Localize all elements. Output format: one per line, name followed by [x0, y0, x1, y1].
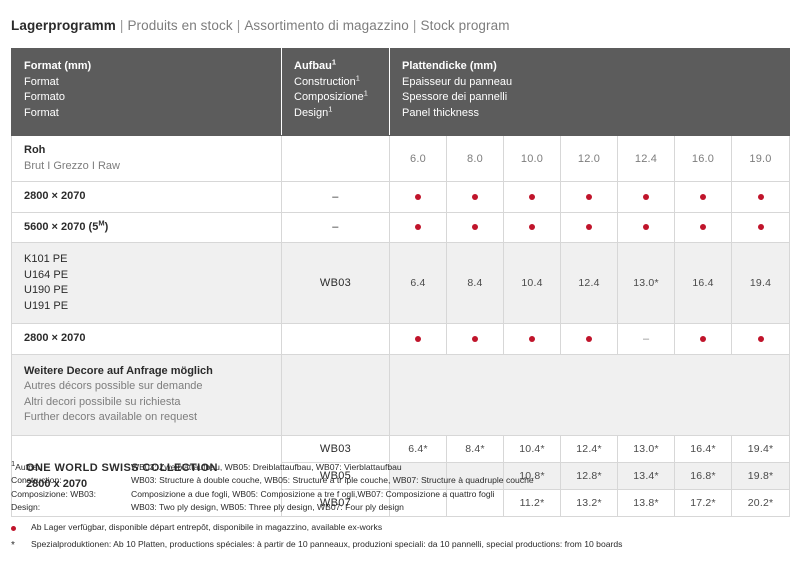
further-decors-aufbau — [282, 354, 390, 435]
footnote-row: Design: WB03: Two ply design, WB05: Thre… — [11, 501, 789, 514]
footnote-label-design: Design: — [11, 501, 131, 514]
availability-dot — [529, 194, 535, 200]
raw-2800-v5 — [618, 182, 675, 213]
roh-label-bold: Roh — [24, 143, 281, 159]
page-title-it: Assortimento di magazzino — [244, 18, 409, 33]
stock-program-sheet: Lagerprogramm|Produits en stock|Assortim… — [0, 0, 800, 566]
legend-text-star: Spezialproduktionen: Ab 10 Platten, prod… — [31, 536, 622, 552]
header-thickness-l4: Panel thickness — [402, 106, 789, 122]
decor-2800-label: 2800 × 2070 — [24, 332, 85, 344]
raw-5600-v4 — [561, 212, 618, 243]
page-title-fr: Produits en stock — [127, 18, 232, 33]
footnote-row: 1Aufbau WB03: Zweiblattaufbau, WB05: Dre… — [11, 461, 789, 474]
roh-aufbau-cell — [282, 136, 390, 182]
raw-5600-aufbau: – — [282, 212, 390, 243]
footnote-label-aufbau: 1Aufbau — [11, 461, 131, 474]
table-row-decor-2800: 2800 × 2070 – — [12, 324, 790, 355]
decor-k101-v6: 16.4 — [675, 243, 732, 324]
further-decors-l3: Altri decori possibile su richiesta — [24, 395, 281, 411]
title-separator-2: | — [233, 18, 245, 33]
availability-dot — [643, 224, 649, 230]
table-header-row: Format (mm) Format Formato Format Aufbau… — [12, 49, 790, 136]
table-row-raw-5600: 5600 × 2070 (5M) – — [12, 212, 790, 243]
legend-row-star: * Spezialproduktionen: Ab 10 Platten, pr… — [11, 536, 789, 553]
table-row-raw-2800: 2800 × 2070 – — [12, 182, 790, 213]
decor-k101-label-cell: K101 PE U164 PE U190 PE U191 PE — [12, 243, 282, 324]
raw-5600-v2 — [447, 212, 504, 243]
footnote-label-composizione: Composizione: WB03: — [11, 488, 131, 501]
legend-row-dot: Ab Lager verfügbar, disponible départ en… — [11, 519, 789, 536]
header-aufbau-l3: Composizione — [294, 91, 364, 103]
thickness-col-5: 12.4 — [618, 136, 675, 182]
further-decors-l1: Weitere Decore auf Anfrage möglich — [24, 364, 281, 380]
oneworld-wb03-v6: 16.4* — [675, 435, 732, 462]
thickness-col-7: 19.0 — [732, 136, 790, 182]
availability-dot — [415, 194, 421, 200]
table-row-oneworld-wb03: ONE WORLD SWISS COLLECTION 2800 x 2070 W… — [12, 435, 790, 462]
thickness-col-2: 8.0 — [447, 136, 504, 182]
raw-2800-v7 — [732, 182, 790, 213]
availability-dot — [700, 336, 706, 342]
header-format-l1: Format (mm) — [24, 59, 281, 75]
page-title-main: Lagerprogramm — [11, 18, 116, 33]
table-row-further-decors: Weitere Decore auf Anfrage möglich Autre… — [12, 354, 790, 435]
availability-dot — [472, 194, 478, 200]
raw-2800-v1 — [390, 182, 447, 213]
footnote-text-construction: WB03: Structure à double couche, WB05: S… — [131, 474, 789, 487]
availability-dot — [700, 194, 706, 200]
header-thickness-l2: Epaisseur du panneau — [402, 75, 789, 91]
title-separator-1: | — [116, 18, 128, 33]
raw-5600-label: 5600 × 2070 (5 — [24, 221, 98, 233]
header-format-cell: Format (mm) Format Formato Format — [12, 49, 282, 136]
header-format-l2: Format — [24, 75, 281, 91]
availability-dot — [586, 224, 592, 230]
header-aufbau-sup-2: 1 — [356, 73, 360, 82]
decor-k101-v2: 8.4 — [447, 243, 504, 324]
oneworld-wb03-aufbau: WB03 — [282, 435, 390, 462]
header-aufbau-cell: Aufbau1 Construction1 Composizione1 Desi… — [282, 49, 390, 136]
further-decors-values — [390, 354, 790, 435]
oneworld-wb03-v2: 8.4* — [447, 435, 504, 462]
footnote-label-construction: Construction: — [11, 474, 131, 487]
footnote-label-text: Aufbau — [15, 462, 42, 472]
decor-k101-v7: 19.4 — [732, 243, 790, 324]
further-decors-l2: Autres décors possible sur demande — [24, 379, 281, 395]
decor-2800-v7 — [732, 324, 790, 355]
oneworld-wb03-v1: 6.4* — [390, 435, 447, 462]
header-aufbau-sup-4: 1 — [328, 104, 332, 113]
header-format-l4: Format — [24, 106, 281, 122]
decor-2800-v3 — [504, 324, 561, 355]
raw-5600-v3 — [504, 212, 561, 243]
decor-k101-aufbau: WB03 — [282, 243, 390, 324]
availability-dot — [758, 224, 764, 230]
availability-dot — [472, 224, 478, 230]
decor-k101-l3: U190 PE — [24, 283, 281, 299]
roh-label-light: Brut I Grezzo I Raw — [24, 159, 281, 175]
header-thickness-cell: Plattendicke (mm) Epaisseur du panneau S… — [390, 49, 790, 136]
header-aufbau-sup-3: 1 — [364, 88, 368, 97]
footnote-text-aufbau: WB03: Zweiblattaufbau, WB05: Dreiblattau… — [131, 461, 789, 474]
availability-dot — [529, 224, 535, 230]
availability-dot-icon — [11, 526, 16, 531]
raw-2800-aufbau: – — [282, 182, 390, 213]
availability-dot — [586, 336, 592, 342]
footnote-text-design: WB03: Two ply design, WB05: Three ply de… — [131, 501, 789, 514]
header-aufbau-sup-1: 1 — [332, 57, 336, 66]
further-decors-l4: Further decors available on request — [24, 410, 281, 426]
availability-dot — [700, 224, 706, 230]
raw-2800-label-cell: 2800 × 2070 — [12, 182, 282, 213]
oneworld-wb03-v7: 19.4* — [732, 435, 790, 462]
raw-5600-label-cell: 5600 × 2070 (5M) — [12, 212, 282, 243]
availability-dot — [643, 194, 649, 200]
decor-k101-v3: 10.4 — [504, 243, 561, 324]
decor-2800-v1 — [390, 324, 447, 355]
availability-dot — [415, 336, 421, 342]
decor-2800-v5: – — [618, 324, 675, 355]
availability-dot — [472, 336, 478, 342]
header-aufbau-l2: Construction — [294, 76, 356, 88]
raw-2800-v4 — [561, 182, 618, 213]
availability-dot — [758, 194, 764, 200]
decor-k101-v4: 12.4 — [561, 243, 618, 324]
table-row-decor-k101: K101 PE U164 PE U190 PE U191 PE WB03 6.4… — [12, 243, 790, 324]
availability-dot — [586, 194, 592, 200]
raw-2800-label: 2800 × 2070 — [24, 190, 85, 202]
decor-2800-v4 — [561, 324, 618, 355]
header-format-l3: Formato — [24, 90, 281, 106]
oneworld-wb03-v4: 12.4* — [561, 435, 618, 462]
decor-2800-v6 — [675, 324, 732, 355]
roh-label-cell: Roh Brut I Grezzo I Raw — [12, 136, 282, 182]
page-title: Lagerprogramm|Produits en stock|Assortim… — [11, 18, 510, 33]
header-thickness-l1: Plattendicke (mm) — [402, 59, 789, 75]
footnote-row: Composizione: WB03: Composizione a due f… — [11, 488, 789, 501]
decor-2800-v2 — [447, 324, 504, 355]
decor-k101-l2: U164 PE — [24, 268, 281, 284]
decor-k101-v5: 13.0* — [618, 243, 675, 324]
header-thickness-l3: Spessore dei pannelli — [402, 90, 789, 106]
thickness-col-3: 10.0 — [504, 136, 561, 182]
decor-k101-l1: K101 PE — [24, 252, 281, 268]
footnotes-block: 1Aufbau WB03: Zweiblattaufbau, WB05: Dre… — [11, 461, 789, 514]
raw-5600-v7 — [732, 212, 790, 243]
footnote-text-composizione: Composizione a due fogli, WB05: Composiz… — [131, 488, 789, 501]
footnote-row: Construction: WB03: Structure à double c… — [11, 474, 789, 487]
legend-block: Ab Lager verfügbar, disponible départ en… — [11, 519, 789, 553]
thickness-col-4: 12.0 — [561, 136, 618, 182]
table-row-roh: Roh Brut I Grezzo I Raw 6.0 8.0 10.0 12.… — [12, 136, 790, 182]
availability-dot — [758, 336, 764, 342]
decor-k101-v1: 6.4 — [390, 243, 447, 324]
legend-text-dot: Ab Lager verfügbar, disponible départ en… — [31, 519, 382, 535]
legend-star-marker: * — [11, 536, 31, 553]
legend-dot-marker — [11, 519, 31, 536]
not-available-dash: – — [643, 333, 649, 345]
raw-2800-v2 — [447, 182, 504, 213]
decor-k101-l4: U191 PE — [24, 299, 281, 315]
asterisk-icon: * — [11, 541, 15, 550]
raw-5600-v6 — [675, 212, 732, 243]
oneworld-wb03-v3: 10.4* — [504, 435, 561, 462]
availability-dot — [415, 224, 421, 230]
thickness-col-1: 6.0 — [390, 136, 447, 182]
decor-2800-aufbau — [282, 324, 390, 355]
decor-2800-label-cell: 2800 × 2070 — [12, 324, 282, 355]
header-aufbau-l1: Aufbau — [294, 60, 332, 72]
raw-2800-v3 — [504, 182, 561, 213]
oneworld-wb03-v5: 13.0* — [618, 435, 675, 462]
header-aufbau-l4: Design — [294, 107, 328, 119]
further-decors-label-cell: Weitere Decore auf Anfrage möglich Autre… — [12, 354, 282, 435]
page-title-en: Stock program — [421, 18, 510, 33]
raw-5600-label-tail: ) — [105, 221, 109, 233]
title-separator-3: | — [409, 18, 421, 33]
raw-5600-v1 — [390, 212, 447, 243]
thickness-col-6: 16.0 — [675, 136, 732, 182]
raw-2800-v6 — [675, 182, 732, 213]
availability-dot — [529, 336, 535, 342]
raw-5600-v5 — [618, 212, 675, 243]
stock-program-table: Format (mm) Format Formato Format Aufbau… — [11, 48, 790, 517]
